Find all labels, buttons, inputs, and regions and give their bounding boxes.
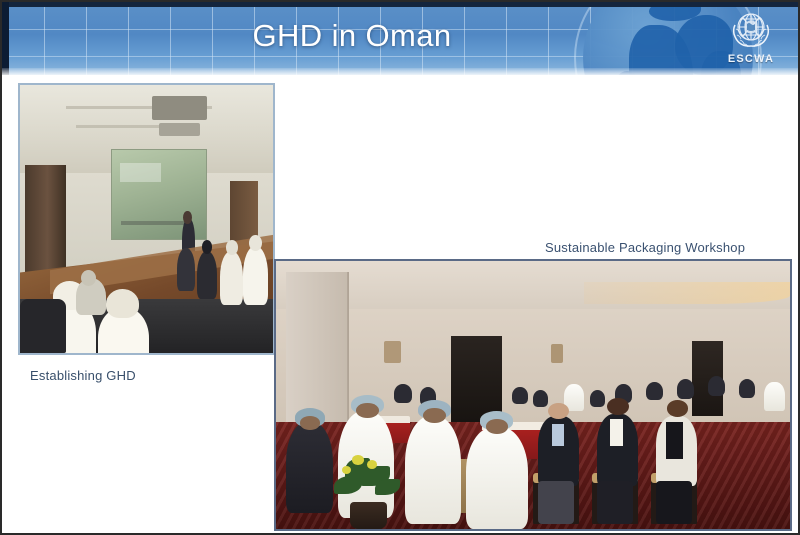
photo2-plant-pot (350, 502, 386, 529)
photo2-attendee-legs (597, 481, 633, 524)
photo1-slide-content (120, 163, 161, 183)
photo2-attendee-head (667, 400, 689, 417)
slide: ESCWA GHD in Oman (0, 0, 800, 535)
escwa-label: ESCWA (718, 53, 784, 65)
photo1-attendee-head (249, 235, 262, 251)
photo2-attendee-back-row (394, 384, 411, 403)
photo2-attendee-head (486, 419, 509, 433)
photo2-attendee-back-row (677, 379, 694, 399)
photo2-cove-lighting (584, 282, 790, 303)
photo2-attendee-shirt (610, 419, 623, 446)
photo1-attendee-headwear (106, 289, 139, 318)
photo2-wall-panel (348, 272, 349, 438)
photo2-attendee-head (548, 403, 569, 419)
photo2-attendee-back-row (646, 382, 662, 401)
photo1-attendee-head (202, 240, 213, 253)
photo1-attendee-head (81, 270, 96, 286)
photo1-slide-content (121, 221, 187, 225)
photo2-attendee-shirt (552, 424, 564, 445)
photo2-attendee-back-row (590, 390, 605, 407)
photo1-chair (20, 299, 66, 353)
photo1-attendee (177, 248, 195, 291)
photo2-attendee-front-row (405, 416, 462, 523)
photo2-attendee-head (423, 408, 446, 422)
photo2-attendee-front-row (286, 422, 332, 513)
photo2-attendee-head (607, 398, 629, 415)
un-emblem-icon (723, 5, 779, 55)
photo2-plant-flower (352, 455, 364, 465)
header-top-trim (2, 2, 800, 7)
photo2-attendee-legs (538, 481, 574, 524)
photo2-attendee-back-row (533, 390, 548, 407)
photo2-wall-sconce (384, 341, 401, 362)
photo2-plant-leaf (375, 479, 400, 495)
photo2-attendee-front-row (466, 427, 528, 529)
photo-sustainable-packaging-workshop (274, 259, 792, 531)
photo1-attendee (197, 251, 217, 299)
photo2-attendee-back-row (708, 376, 725, 396)
photo1-attendee (243, 246, 268, 305)
photo2-attendee-back-row (739, 379, 755, 398)
photo2-attendee-legs (656, 481, 692, 524)
header-bottom-fade (2, 68, 800, 75)
photo1-caption: Establishing GHD (30, 368, 136, 383)
photo2-attendee-back-row (764, 382, 785, 411)
photo2-attendee-head (300, 416, 321, 429)
photo2-attendee-shirt (666, 422, 683, 460)
slide-header-banner: ESCWA GHD in Oman (2, 2, 800, 75)
photo2-attendee-back-row (512, 387, 527, 404)
photo1-wood-panel (25, 165, 65, 278)
photo2-caption: Sustainable Packaging Workshop (545, 240, 745, 255)
photo1-ceiling-projector (152, 96, 208, 120)
escwa-logo: ESCWA (718, 5, 784, 73)
photo2-attendee-head (356, 403, 379, 417)
photo2-floral-arrangement (327, 449, 409, 529)
photo1-ceiling-projector (159, 123, 199, 136)
photo-establishing-ghd (18, 83, 275, 355)
page-title: GHD in Oman (2, 18, 702, 54)
photo2-plant-flower (367, 460, 377, 469)
photo1-attendee (220, 251, 243, 305)
photo2-wall-sconce (551, 344, 563, 363)
photo1-attendee-head (226, 240, 238, 254)
